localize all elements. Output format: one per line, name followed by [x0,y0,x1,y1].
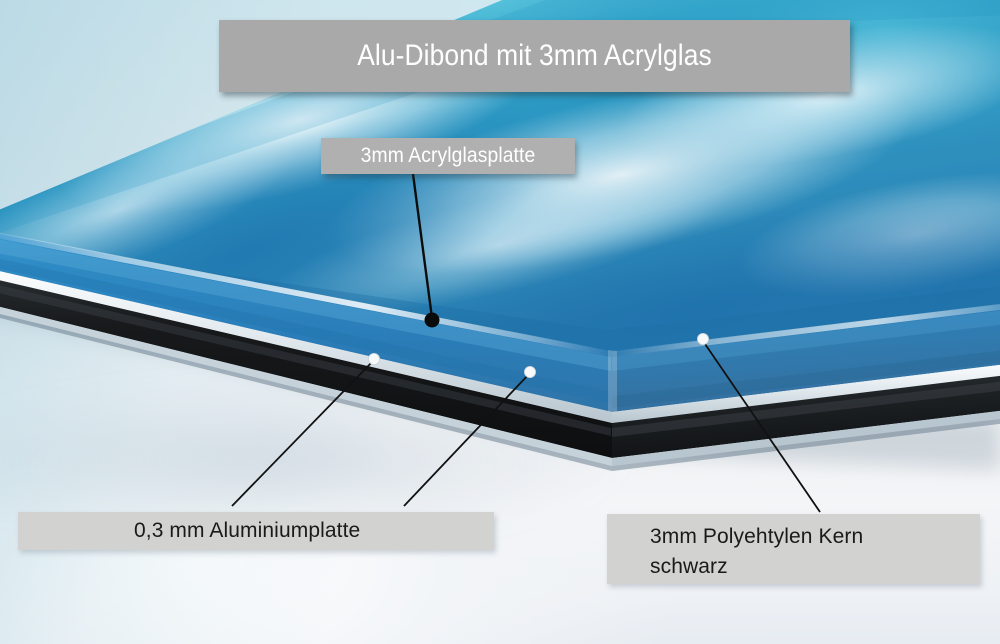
callout-acrylglas: 3mm Acrylglasplatte [321,138,575,174]
callout-title: Alu-Dibond mit 3mm Acrylglas [219,20,850,92]
product-diagram-stage: Alu-Dibond mit 3mm Acrylglas 3mm Acrylgl… [0,0,1000,644]
callout-aluminium: 0,3 mm Aluminiumplatte [18,512,494,550]
callout-polyethylen-core: 3mm Polyehtylen Kern schwarz [607,514,980,584]
